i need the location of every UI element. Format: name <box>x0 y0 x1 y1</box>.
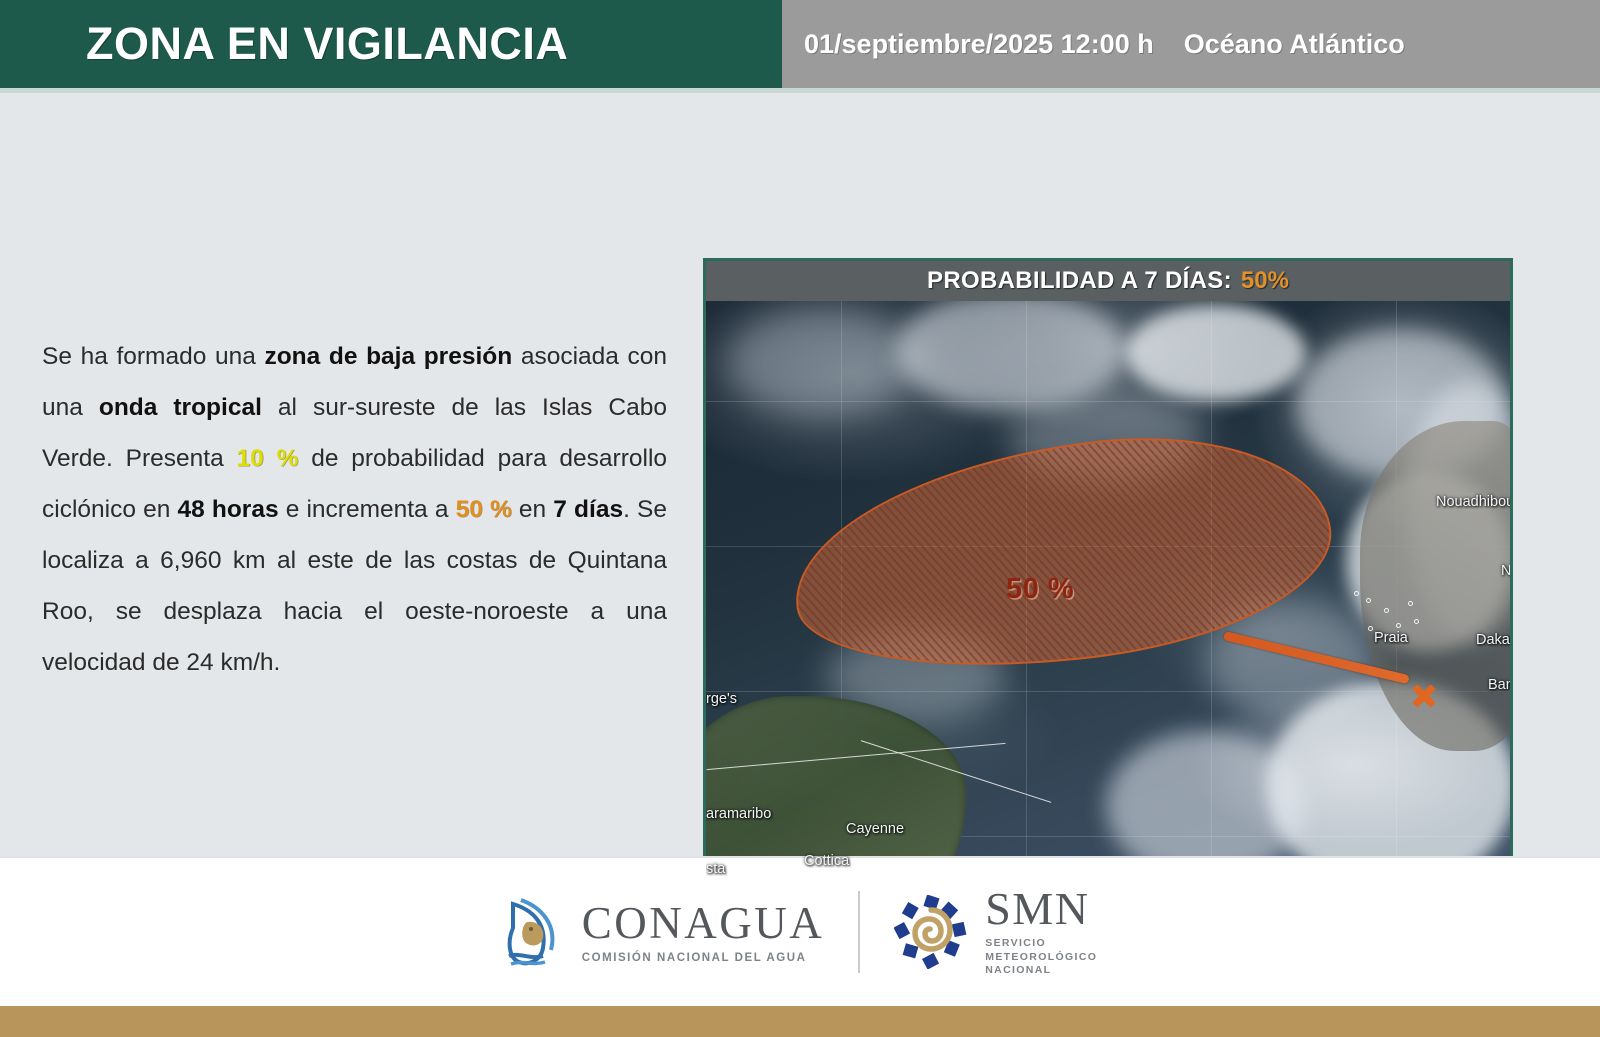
text-seg-5: e incrementa a <box>279 496 456 523</box>
cyclone-probability-cone <box>781 414 1343 693</box>
smn-subtitle: SERVICIOMETEOROLÓGICONACIONAL <box>985 937 1097 977</box>
map-canvas[interactable]: 50 % Nouadhibou N Praia Dakar Banj rge's… <box>706 301 1513 896</box>
logo-divider <box>858 891 860 973</box>
header-datetime: 01/septiembre/2025 12:00 h <box>804 29 1154 60</box>
coastline <box>861 740 1052 803</box>
smn-subtitle-line2: METEOROLÓGICO <box>985 951 1097 963</box>
map-label-cayenne: Cayenne <box>846 821 904 837</box>
header-underline <box>0 88 1600 93</box>
cloud-patch <box>1296 329 1506 479</box>
smn-name: SMN <box>985 886 1097 932</box>
text-bold-low-pressure: zona de baja presión <box>264 343 512 370</box>
header-meta-block: 01/septiembre/2025 12:00 h Océano Atlánt… <box>782 0 1600 88</box>
body-area: Se ha formado una zona de baja presión a… <box>0 93 1600 858</box>
map-label-nouadhibou: Nouadhibou <box>1436 494 1513 510</box>
cloud-patch <box>726 307 916 417</box>
cloud-patch <box>896 301 1126 411</box>
smn-spiral-icon <box>894 895 968 969</box>
island-dot <box>1408 601 1413 606</box>
cloud-patch <box>736 731 886 811</box>
cloud-patch <box>1126 305 1306 401</box>
smn-subtitle-line3: NACIONAL <box>985 964 1051 976</box>
bulletin-paragraph: Se ha formado una zona de baja presión a… <box>42 331 667 688</box>
text-bold-tropical-wave: onda tropical <box>99 394 262 421</box>
header-title-block: ZONA EN VIGILANCIA <box>0 0 782 88</box>
map-banner-label: PROBABILIDAD A 7 DÍAS: <box>927 267 1232 295</box>
island-dot <box>1414 619 1419 624</box>
bulletin-page: ZONA EN VIGILANCIA 01/septiembre/2025 12… <box>0 0 1600 1037</box>
map-label-georges: rge's <box>706 691 737 707</box>
map-label-praia: Praia <box>1374 630 1408 646</box>
gridline-horizontal <box>706 401 1513 402</box>
gridline-vertical <box>1396 301 1397 896</box>
cone-probability-label: 50 % <box>1006 573 1074 606</box>
page-footer: CONAGUA COMISIÓN NACIONAL DEL AGUA <box>0 858 1600 1006</box>
map-banner-probability: 50% <box>1241 267 1289 295</box>
map-label-paramaribo: aramaribo <box>706 806 771 822</box>
map-label-dakar: Dakar <box>1476 632 1513 648</box>
cyclone-center-x-marker <box>1411 683 1437 709</box>
page-header: ZONA EN VIGILANCIA 01/septiembre/2025 12… <box>0 0 1600 88</box>
island-dot <box>1354 591 1359 596</box>
gridline-horizontal <box>706 691 1513 692</box>
island-dot <box>1368 626 1373 631</box>
smn-subtitle-line1: SERVICIO <box>985 937 1046 949</box>
conagua-logo: CONAGUA COMISIÓN NACIONAL DEL AGUA <box>503 894 825 970</box>
text-seg-7: . Se localiza a 6,960 km al este de las … <box>42 496 667 676</box>
map-label-banjul: Banj <box>1488 677 1513 693</box>
map-label-n: N <box>1501 563 1511 579</box>
cloud-patch <box>1346 471 1511 651</box>
map-probability-banner: PROBABILIDAD A 7 DÍAS: 50% <box>706 261 1510 301</box>
text-panel: Se ha formado una zona de baja presión a… <box>42 331 667 688</box>
smn-wordmark: SMN SERVICIOMETEOROLÓGICONACIONAL <box>985 886 1097 977</box>
text-seg-6: en <box>512 496 554 523</box>
conagua-wordmark: CONAGUA COMISIÓN NACIONAL DEL AGUA <box>582 901 825 964</box>
probability-48h-value: 10 % <box>237 445 299 472</box>
page-title: ZONA EN VIGILANCIA <box>86 18 568 70</box>
satellite-map-frame: PROBABILIDAD A 7 DÍAS: 50% <box>703 258 1513 896</box>
probability-7d-value: 50 % <box>456 496 512 523</box>
text-bold-7-days: 7 días <box>553 496 623 523</box>
conagua-subtitle: COMISIÓN NACIONAL DEL AGUA <box>582 952 825 964</box>
coastline <box>707 743 1006 770</box>
island-dot <box>1396 623 1401 628</box>
text-seg-1: Se ha formado una <box>42 343 264 370</box>
header-basin: Océano Atlántico <box>1184 29 1405 60</box>
bottom-accent-bar <box>0 1006 1600 1037</box>
cloud-patch <box>1406 381 1513 641</box>
text-bold-48-hours: 48 horas <box>177 496 278 523</box>
island-dot <box>1384 608 1389 613</box>
gridline-horizontal <box>706 836 1513 837</box>
smn-logo: SMN SERVICIOMETEOROLÓGICONACIONAL <box>894 886 1097 977</box>
cyclone-track-line <box>1223 631 1410 684</box>
conagua-name: CONAGUA <box>582 901 825 946</box>
island-dot <box>1366 598 1371 603</box>
conagua-wave-eagle-icon <box>503 894 565 970</box>
